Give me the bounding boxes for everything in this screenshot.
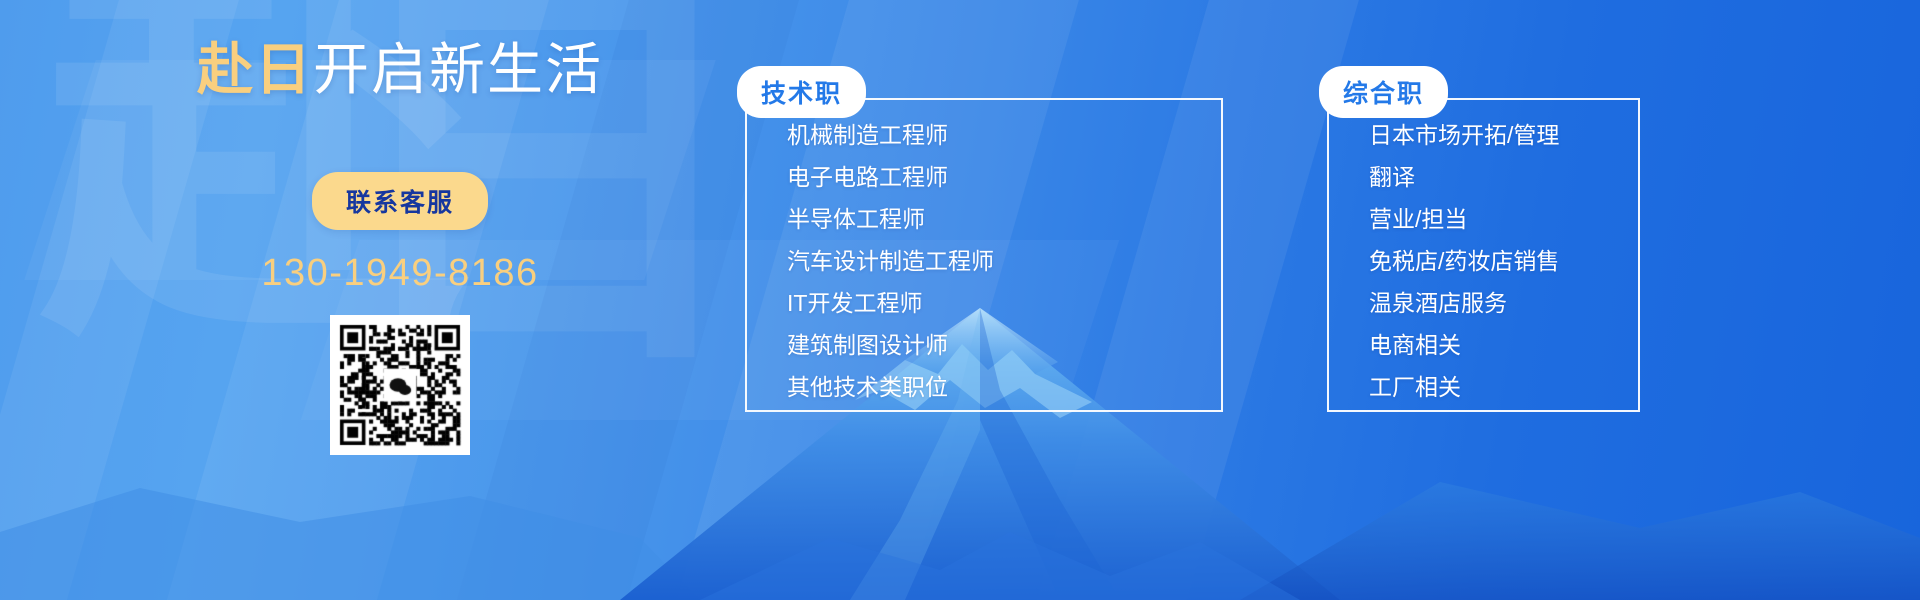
panel-tech-list: 机械制造工程师 电子电路工程师 半导体工程师 汽车设计制造工程师 IT开发工程师… xyxy=(745,98,994,399)
list-item[interactable]: 其他技术类职位 xyxy=(787,376,994,399)
qr-code[interactable] xyxy=(330,315,470,455)
list-item[interactable]: 工厂相关 xyxy=(1369,376,1559,399)
promo-banner: 赴 日 xyxy=(0,0,1920,600)
headline-accent-text: 赴日 xyxy=(197,38,313,101)
list-item[interactable]: 机械制造工程师 xyxy=(787,124,994,147)
panel-general-jobs: 综合职 日本市场开拓/管理 翻译 营业/担当 免税店/药妆店销售 温泉酒店服务 … xyxy=(1327,98,1559,399)
panel-general-list: 日本市场开拓/管理 翻译 营业/担当 免税店/药妆店销售 温泉酒店服务 电商相关… xyxy=(1327,98,1559,399)
panel-tech-label: 技术职 xyxy=(737,66,866,118)
qr-code-canvas[interactable] xyxy=(330,315,470,455)
list-item[interactable]: 电商相关 xyxy=(1369,334,1559,357)
page-title: 赴日开启新生活 xyxy=(120,42,680,98)
list-item[interactable]: 翻译 xyxy=(1369,166,1559,189)
headline-plain-text: 开启新生活 xyxy=(313,38,603,101)
list-item[interactable]: 电子电路工程师 xyxy=(787,166,994,189)
list-item[interactable]: 汽车设计制造工程师 xyxy=(787,250,994,273)
list-item[interactable]: 建筑制图设计师 xyxy=(787,334,994,357)
list-item[interactable]: 免税店/药妆店销售 xyxy=(1369,250,1559,273)
list-item[interactable]: 日本市场开拓/管理 xyxy=(1369,124,1559,147)
left-content-block: 赴日开启新生活 联系客服 130-1949-8186 xyxy=(120,42,680,460)
list-item[interactable]: 半导体工程师 xyxy=(787,208,994,231)
list-item[interactable]: 温泉酒店服务 xyxy=(1369,292,1559,315)
list-item[interactable]: IT开发工程师 xyxy=(787,292,994,315)
contact-support-button[interactable]: 联系客服 xyxy=(312,172,488,230)
panel-general-label: 综合职 xyxy=(1319,66,1448,118)
phone-number: 130-1949-8186 xyxy=(120,252,680,295)
panel-tech-jobs: 技术职 机械制造工程师 电子电路工程师 半导体工程师 汽车设计制造工程师 IT开… xyxy=(745,98,994,399)
list-item[interactable]: 营业/担当 xyxy=(1369,208,1559,231)
